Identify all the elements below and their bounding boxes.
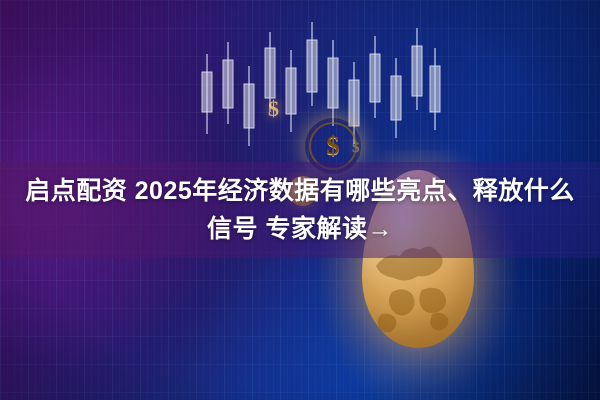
dollar-symbol-icon: $ <box>268 96 279 122</box>
headline-line-1: 启点配资 2025年经济数据有哪些亮点、释放什么 <box>25 172 575 210</box>
headline: 启点配资 2025年经济数据有哪些亮点、释放什么 信号 专家解读→ <box>0 162 600 258</box>
headline-line-2: 信号 专家解读→ <box>207 210 393 248</box>
banner-image: $ $ $ $ 启点配资 2025年经济数据有哪些亮点、释放什么 信号 专家解读… <box>0 0 600 400</box>
